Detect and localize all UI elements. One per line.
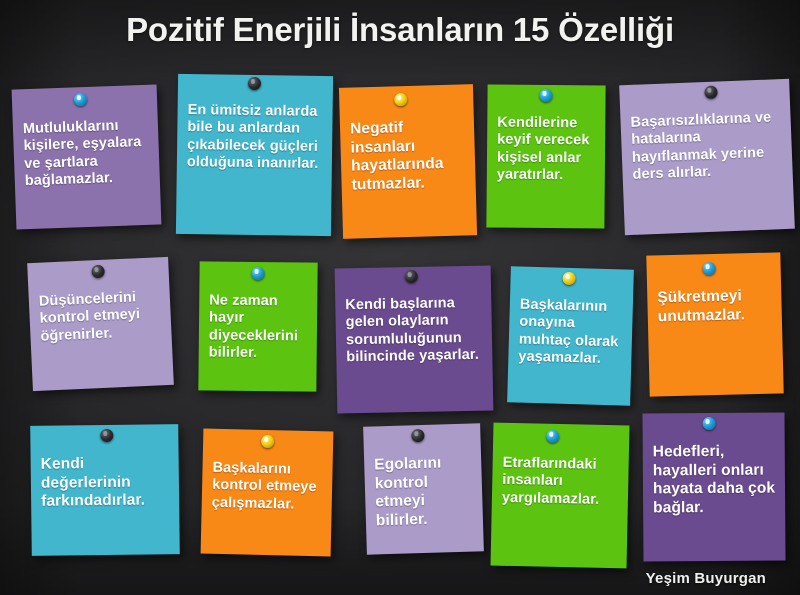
sticky-note-text: Başkalarını kontrol etmeye çalışmazlar. bbox=[212, 460, 325, 515]
sticky-note-text: Hedefleri, hayalleri onları hayata daha … bbox=[653, 443, 778, 518]
sticky-note-5[interactable]: Başarısızlıklarına ve hatalarına hayıfla… bbox=[619, 79, 795, 235]
sticky-note-9[interactable]: Başkalarının onayına muhtaç olarak yaşam… bbox=[507, 266, 634, 405]
pushpin-icon bbox=[405, 270, 418, 283]
pushpin-icon bbox=[702, 262, 715, 275]
sticky-note-text: Negatif insanları hayatlarında tutmazlar… bbox=[350, 117, 468, 195]
sticky-note-12[interactable]: Başkalarını kontrol etmeye çalışmazlar. bbox=[201, 429, 334, 557]
pushpin-icon bbox=[703, 417, 716, 430]
pushpin-icon bbox=[394, 93, 407, 106]
sticky-note-text: Başkalarının onayına muhtaç olarak yaşam… bbox=[518, 297, 625, 369]
sticky-note-15[interactable]: Hedefleri, hayalleri onları hayata daha … bbox=[642, 413, 785, 562]
sticky-note-text: Kendi değerlerinin farkındadırlar. bbox=[41, 454, 172, 511]
sticky-note-text: Ne zaman hayır diyeceklerini bilirler. bbox=[209, 292, 310, 363]
sticky-note-6[interactable]: Düşüncelerini kontrol etmeyi öğrenirler. bbox=[27, 257, 174, 391]
sticky-note-8[interactable]: Kendi başlarına gelen olayların sorumlul… bbox=[335, 266, 494, 414]
pushpin-icon bbox=[251, 267, 264, 280]
pushpin-icon bbox=[562, 272, 575, 285]
sticky-note-text: Düşüncelerini kontrol etmeyi öğrenirler. bbox=[39, 288, 164, 346]
pushpin-icon bbox=[74, 93, 87, 106]
sticky-note-14[interactable]: Etraflarındaki insanları yargılamazlar. bbox=[491, 423, 630, 569]
sticky-note-text: Başarısızlıklarına ve hatalarına hayıfla… bbox=[630, 109, 785, 184]
sticky-note-13[interactable]: Egolarını kontrol etmeyi bilirler. bbox=[363, 423, 484, 554]
pushpin-icon bbox=[248, 77, 261, 90]
sticky-note-3[interactable]: Negatif insanları hayatlarında tutmazlar… bbox=[339, 84, 477, 239]
sticky-note-text: Kendilerine keyif verecek kişisel anlar … bbox=[497, 115, 598, 185]
pushpin-icon bbox=[546, 430, 559, 443]
sticky-note-text: Mutluluklarını kişilere, eşyalara ve şar… bbox=[23, 117, 152, 191]
author-signature: Yeşim Buyurgan bbox=[646, 570, 766, 587]
sticky-note-7[interactable]: Ne zaman hayır diyeceklerini bilirler. bbox=[198, 261, 317, 391]
pushpin-icon bbox=[261, 435, 274, 448]
pushpin-icon bbox=[411, 429, 424, 442]
sticky-note-text: Etraflarındaki insanları yargılamazlar. bbox=[502, 455, 621, 510]
corkboard-canvas: Pozitif Enerjili İnsanların 15 Özelliği … bbox=[0, 0, 800, 595]
sticky-note-10[interactable]: Şükretmeyi unutmazlar. bbox=[646, 252, 783, 396]
sticky-note-2[interactable]: En ümitsiz anlarda bile bu anlardan çıka… bbox=[176, 74, 333, 236]
pushpin-icon bbox=[539, 89, 552, 102]
pushpin-icon bbox=[91, 265, 105, 279]
pushpin-icon bbox=[100, 429, 113, 442]
sticky-note-4[interactable]: Kendilerine keyif verecek kişisel anlar … bbox=[486, 84, 605, 228]
sticky-note-1[interactable]: Mutluluklarını kişilere, eşyalara ve şar… bbox=[12, 85, 162, 230]
sticky-note-text: Şükretmeyi unutmazlar. bbox=[657, 287, 774, 327]
sticky-note-text: Egolarını kontrol etmeyi bilirler. bbox=[374, 454, 475, 531]
pushpin-icon bbox=[704, 86, 717, 99]
page-title: Pozitif Enerjili İnsanların 15 Özelliği bbox=[0, 11, 800, 49]
sticky-note-11[interactable]: Kendi değerlerinin farkındadırlar. bbox=[30, 424, 180, 556]
sticky-note-text: En ümitsiz anlarda bile bu anlardan çıka… bbox=[187, 102, 325, 173]
sticky-note-text: Kendi başlarına gelen olayların sorumlul… bbox=[345, 295, 484, 367]
